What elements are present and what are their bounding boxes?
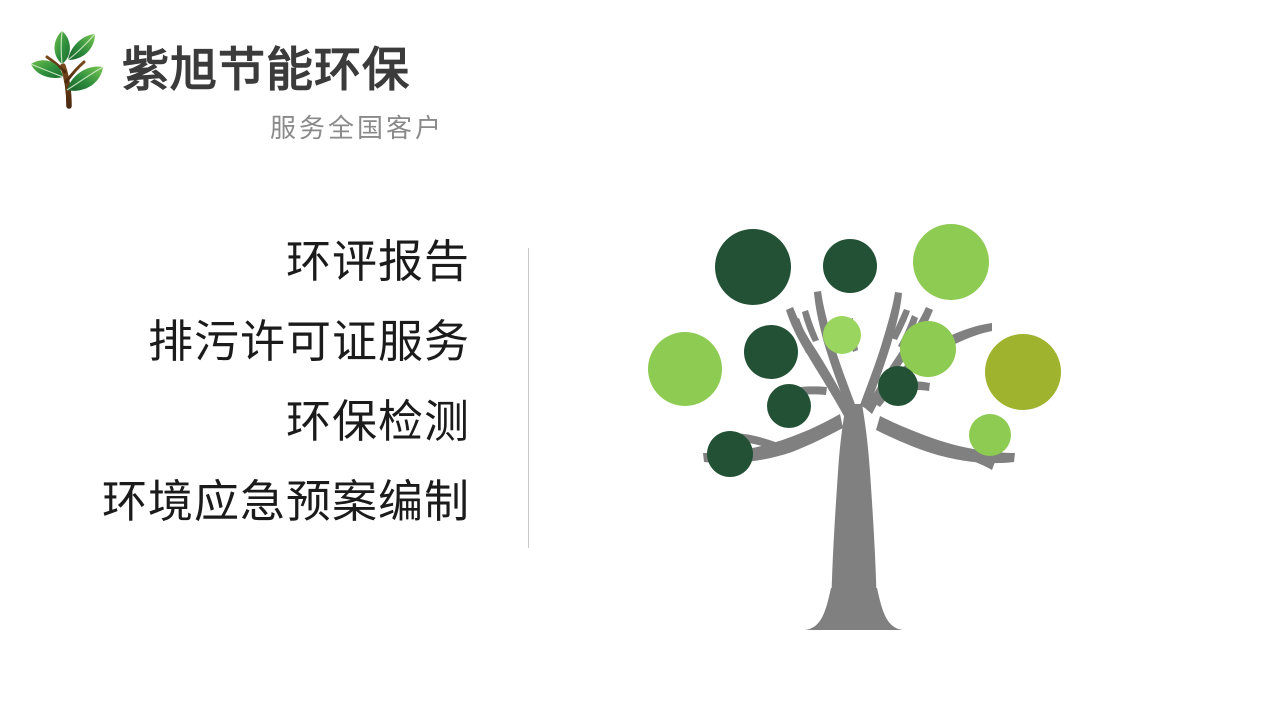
service-list: 环评报告 排污许可证服务 环保检测 环境应急预案编制 [60,222,470,542]
canopy-circle-dark-upper-left [715,229,791,305]
green-tree-icon [600,190,1120,660]
canopy-circle-dark-bottom-left [707,431,753,477]
canopy-circle-light-mid-left [648,332,722,406]
canopy-circle-pale-lower-right [969,414,1011,456]
canopy-circle-dark-mid-left [744,325,798,379]
slide-canvas: 紫旭节能环保 服务全国客户 环评报告 排污许可证服务 环保检测 环境应急预案编制 [0,0,1279,720]
service-item-huanjing-yingji-yuan: 环境应急预案编制 [60,462,470,542]
service-item-paiwu-xukezheng-fuwu: 排污许可证服务 [60,302,470,382]
brand-title: 紫旭节能环保 [122,44,410,96]
canopy-circle-pale-center [823,316,861,354]
canopy-circle-dark-center-right [878,366,918,406]
canopy-circle-dark-lower-left [767,384,811,428]
canopy-circle-dark-top-center [823,239,877,293]
sprout-leaf-icon [22,20,118,116]
brand-subtitle: 服务全国客户 [270,114,444,144]
canopy-circle-light-upper-right [913,224,989,300]
service-item-huanping-baogao: 环评报告 [60,222,470,302]
canopy-circle-light-mid-right [900,321,956,377]
vertical-divider [528,248,529,548]
canopy-circle-olive-right [985,334,1061,410]
service-item-huanbao-jiance: 环保检测 [60,382,470,462]
brand-header: 紫旭节能环保 服务全国客户 [22,14,542,134]
